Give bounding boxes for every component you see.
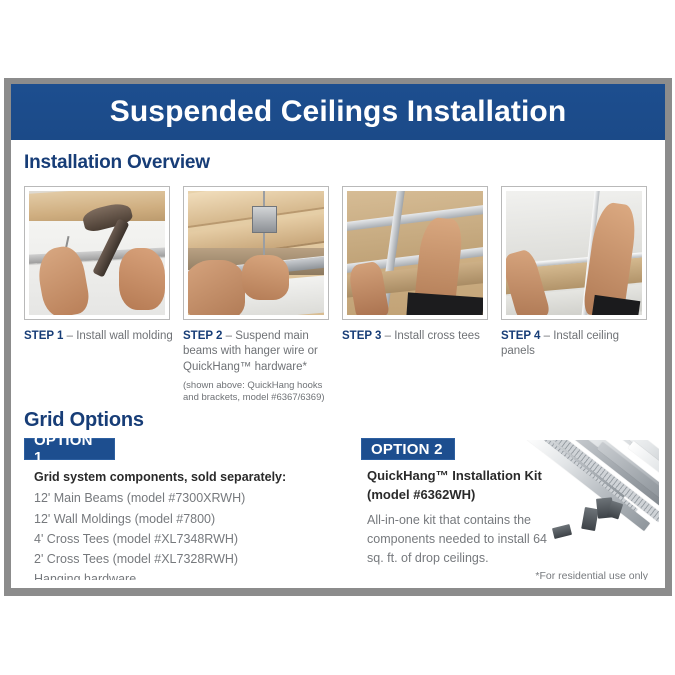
step-1-dash: – <box>63 330 76 342</box>
list-item: 12' Main Beams (model #7300XRWH) <box>34 488 334 508</box>
step-2-dash: – <box>222 330 235 342</box>
option-2-badge: OPTION 2 <box>361 438 455 460</box>
photo-step-3-install-cross-tees <box>342 186 488 320</box>
infographic-page: Suspended Ceilings Installation Installa… <box>0 0 675 675</box>
step-4-label: STEP 4 <box>501 330 540 342</box>
grid-options-heading: Grid Options <box>24 409 144 432</box>
list-item: 2' Cross Tees (model #XL7328RWH) <box>34 549 334 569</box>
caption-step-2: STEP 2 – Suspend main beams with hanger … <box>183 329 335 404</box>
quickhang-kit-product-photo <box>497 440 659 566</box>
list-item: 12' Wall Moldings (model #7800) <box>34 509 334 529</box>
option-2-badge-label: OPTION 2 <box>371 441 443 458</box>
photo-step-1-install-wall-molding <box>24 186 170 320</box>
caption-step-1: STEP 1 – Install wall molding <box>24 329 174 344</box>
step-2-note: (shown above: QuickHang hooks and bracke… <box>183 380 335 404</box>
photo-step-2-suspend-main-beams <box>183 186 329 320</box>
photo-step-4-install-ceiling-panels <box>501 186 647 320</box>
option-1-body: Grid system components, sold separately:… <box>34 467 334 588</box>
list-item: 4' Cross Tees (model #XL7348RWH) <box>34 529 334 549</box>
page-title: Suspended Ceilings Installation <box>110 97 567 127</box>
step-1-label: STEP 1 <box>24 330 63 342</box>
caption-step-3: STEP 3 – Install cross tees <box>342 329 494 344</box>
title-banner: Suspended Ceilings Installation <box>11 84 665 140</box>
option-1-lead: Grid system components, sold separately: <box>34 467 334 487</box>
sheet-bottom-padding <box>11 580 665 588</box>
step-3-label: STEP 3 <box>342 330 381 342</box>
step-photo-row <box>24 186 652 322</box>
step-3-text: Install cross tees <box>394 330 480 342</box>
option-1-badge-label: OPTION 1 <box>34 432 104 466</box>
caption-step-4: STEP 4 – Install ceiling panels <box>501 329 653 360</box>
installation-overview-heading: Installation Overview <box>24 152 210 174</box>
step-3-dash: – <box>381 330 394 342</box>
step-1-text: Install wall molding <box>76 330 173 342</box>
content-sheet: Suspended Ceilings Installation Installa… <box>11 84 665 588</box>
step-4-dash: – <box>540 330 553 342</box>
option-1-component-list: 12' Main Beams (model #7300XRWH) 12' Wal… <box>34 488 334 588</box>
option-1-badge: OPTION 1 <box>24 438 115 460</box>
step-2-label: STEP 2 <box>183 330 222 342</box>
